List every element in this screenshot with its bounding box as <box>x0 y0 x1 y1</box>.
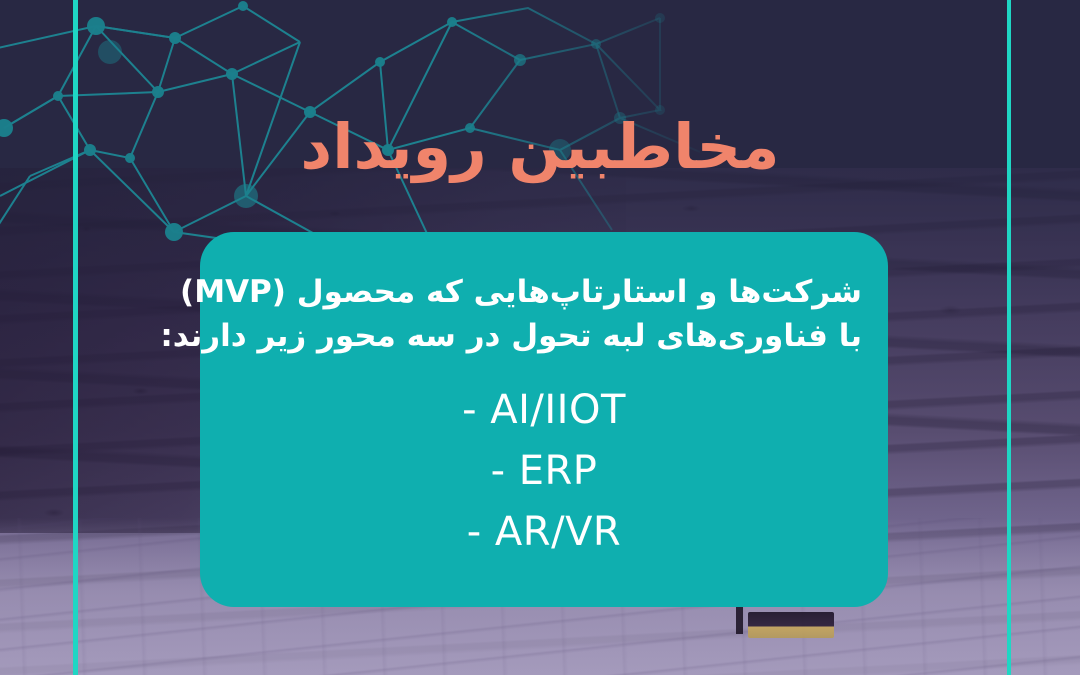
audience-lead-line-2: با فناوری‌های لبه تحول در سه محور زیر دا… <box>226 314 862 358</box>
slide-canvas: مخاطبین رویداد شرکت‌ها و استارتاپ‌هایی ک… <box>0 0 1080 675</box>
list-item: - AR/VR <box>226 502 862 563</box>
right-vertical-accent-rule <box>1007 0 1011 675</box>
excavator-silhouette <box>748 612 834 638</box>
technology-axis-list: - AI/IIOT - ERP - AR/VR <box>226 380 862 562</box>
list-item: - ERP <box>226 441 862 502</box>
audience-lead-line-1: شرکت‌ها و استارتاپ‌هایی که محصول (MVP) <box>226 270 862 314</box>
list-item: - AI/IIOT <box>226 380 862 441</box>
left-vertical-accent-rule <box>73 0 78 675</box>
audience-card: شرکت‌ها و استارتاپ‌هایی که محصول (MVP) ب… <box>200 232 888 607</box>
audience-card-lead: شرکت‌ها و استارتاپ‌هایی که محصول (MVP) ب… <box>226 270 862 358</box>
page-title: مخاطبین رویداد <box>0 114 1080 179</box>
